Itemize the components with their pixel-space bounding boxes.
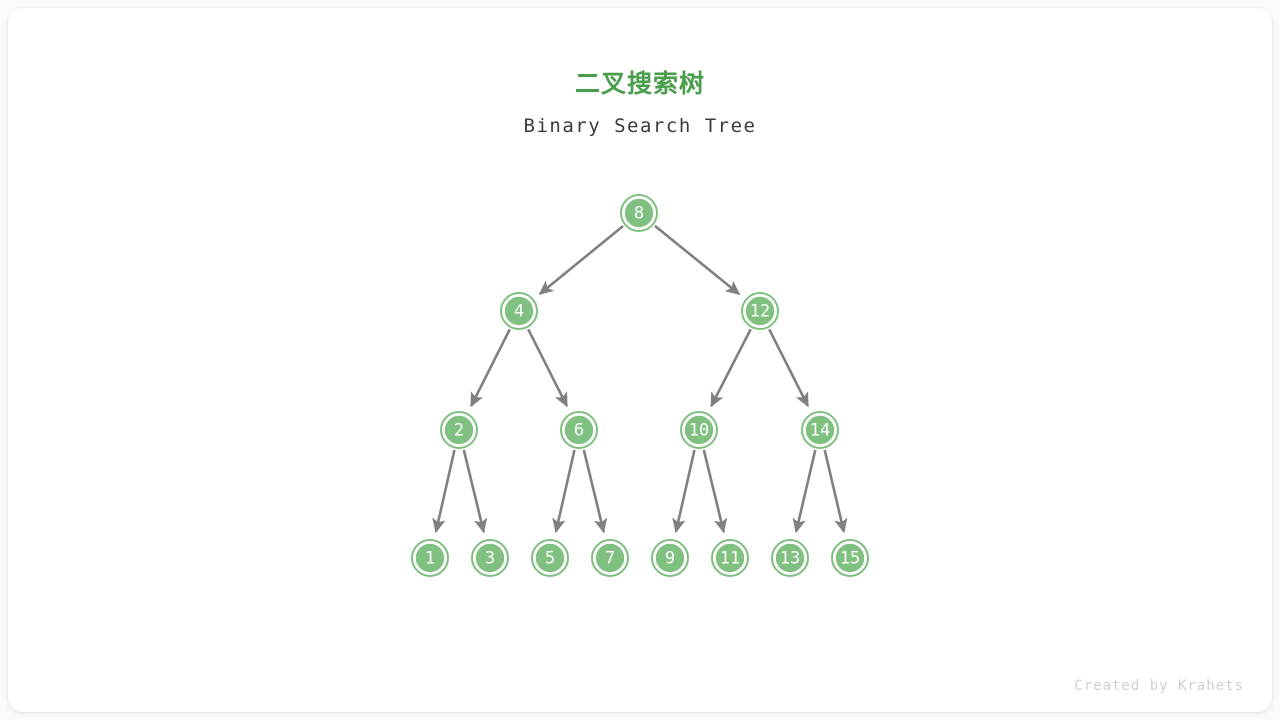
- tree-edges-layer: [436, 226, 844, 532]
- tree-node[interactable]: 15: [832, 540, 868, 576]
- tree-node[interactable]: 5: [532, 540, 568, 576]
- tree-node-label: 1: [425, 549, 435, 569]
- tree-node-label: 3: [485, 549, 495, 569]
- tree-node[interactable]: 8: [621, 195, 657, 231]
- tree-node[interactable]: 13: [772, 540, 808, 576]
- tree-node[interactable]: 12: [742, 293, 778, 329]
- tree-node[interactable]: 11: [712, 540, 748, 576]
- binary-search-tree-diagram: 841226101413579111315: [8, 8, 1272, 712]
- tree-node-label: 6: [574, 421, 584, 441]
- tree-node[interactable]: 9: [652, 540, 688, 576]
- tree-node[interactable]: 2: [441, 412, 477, 448]
- tree-edge: [655, 226, 739, 294]
- figure-canvas: 二叉搜索树 Binary Search Tree 841226101413579…: [0, 0, 1280, 720]
- tree-node[interactable]: 3: [472, 540, 508, 576]
- figure-card: 二叉搜索树 Binary Search Tree 841226101413579…: [8, 8, 1272, 712]
- tree-node-label: 13: [780, 549, 800, 569]
- tree-edge: [556, 450, 575, 532]
- tree-node-label: 2: [454, 421, 464, 441]
- credit-text: Created by Krahets: [1074, 678, 1244, 694]
- tree-edge: [528, 329, 567, 406]
- tree-node[interactable]: 10: [681, 412, 717, 448]
- tree-edge: [436, 450, 455, 532]
- tree-edge: [711, 329, 750, 406]
- tree-edge: [584, 450, 604, 532]
- tree-node-label: 9: [665, 549, 675, 569]
- tree-node-label: 11: [720, 549, 740, 569]
- tree-node-label: 14: [810, 421, 830, 441]
- tree-edge: [796, 450, 815, 532]
- tree-node[interactable]: 14: [802, 412, 838, 448]
- tree-node-label: 4: [514, 302, 524, 322]
- tree-edge: [676, 450, 695, 532]
- tree-node-label: 12: [750, 302, 770, 322]
- tree-node-label: 15: [840, 549, 860, 569]
- tree-node[interactable]: 6: [561, 412, 597, 448]
- tree-node[interactable]: 4: [501, 293, 537, 329]
- tree-node[interactable]: 7: [592, 540, 628, 576]
- tree-node-label: 8: [634, 204, 644, 224]
- tree-edge: [464, 450, 484, 532]
- tree-node-label: 10: [689, 421, 709, 441]
- tree-node-label: 7: [605, 549, 615, 569]
- tree-edge: [825, 450, 844, 532]
- tree-edge: [769, 329, 808, 406]
- tree-edge: [704, 450, 724, 532]
- tree-edge: [471, 329, 510, 406]
- tree-edge: [540, 226, 623, 294]
- tree-node[interactable]: 1: [412, 540, 448, 576]
- tree-node-label: 5: [545, 549, 555, 569]
